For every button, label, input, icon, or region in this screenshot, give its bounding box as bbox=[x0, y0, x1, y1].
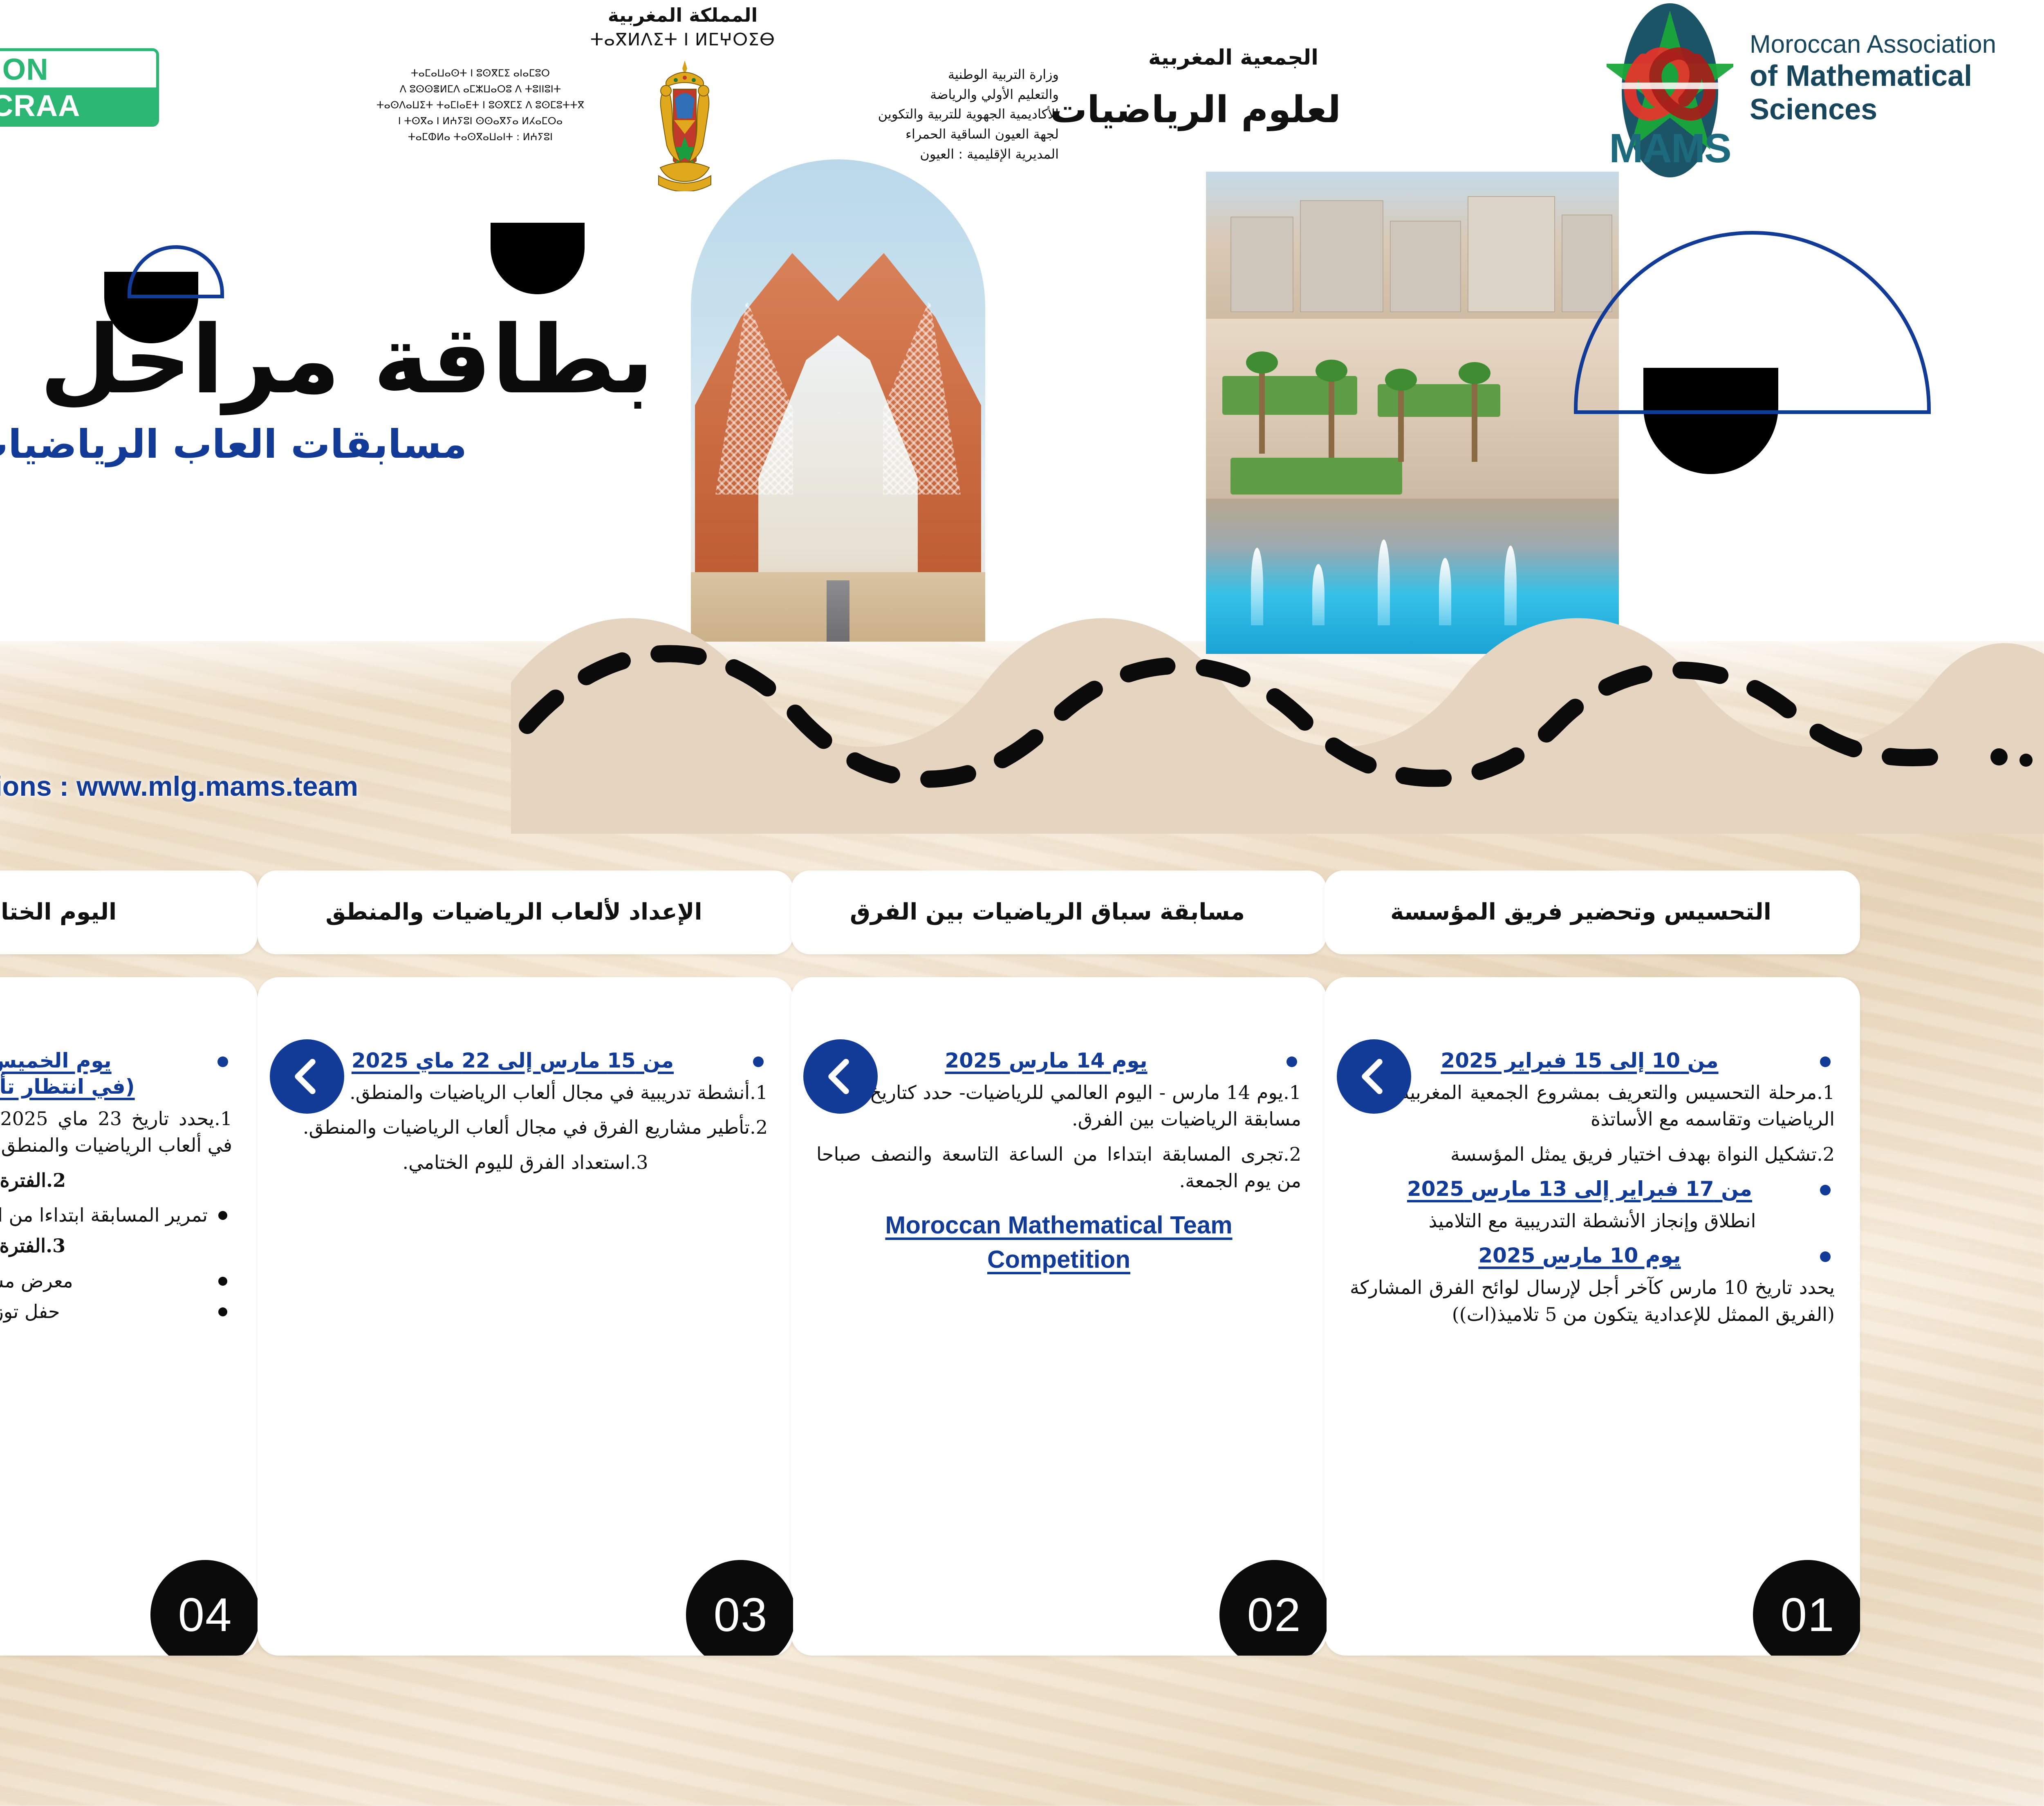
card-01-item-2: 2.تشكيل النواة بهدف اختيار فريق يمثل الم… bbox=[1350, 1141, 1835, 1168]
card-02-date-1: يوم 14 مارس 2025 bbox=[945, 1047, 1147, 1074]
mams-en-line-3: Sciences bbox=[1750, 93, 2036, 126]
timeline-card-01: التحسيس وتحضير فريق المؤسسة من 10 إلى 15… bbox=[1325, 871, 1860, 1656]
card-01-body: من 10 إلى 15 فبراير 2025 1.مرحلة التحسيس… bbox=[1325, 977, 1860, 1656]
ministry-ar-line-3: الأكاديمية الجهوية للتربية والتكوين bbox=[740, 104, 1059, 124]
card-01-item-4: يحدد تاريخ 10 مارس كآخر أجل لإرسال لوائح… bbox=[1350, 1274, 1835, 1328]
card-04-number: 04 bbox=[178, 1587, 232, 1642]
card-03-arrow-button[interactable] bbox=[270, 1039, 344, 1114]
card-02-item-1: 1.يوم 14 مارس - اليوم العالمي للرياضيات-… bbox=[816, 1079, 1301, 1133]
card-03-title: الإعداد لألعاب الرياضيات والمنطق bbox=[309, 900, 741, 925]
card-04-number-badge: 04 bbox=[150, 1560, 258, 1656]
decor-halfdisc-3 bbox=[491, 223, 585, 294]
page-subtitle: مسابقات العاب الرياضيات والمنطق bbox=[0, 421, 658, 468]
mams-english-name: Moroccan Association of Mathematical Sci… bbox=[1750, 30, 2036, 126]
arrow-left-icon bbox=[284, 1054, 330, 1099]
decor-semicircle-outline-large bbox=[1574, 231, 1931, 414]
card-01-number-badge: 01 bbox=[1753, 1560, 1860, 1656]
card-02-body: يوم 14 مارس 2025 1.يوم 14 مارس - اليوم ا… bbox=[791, 977, 1327, 1656]
card-03-date-1: من 15 مارس إلى 22 ماي 2025 bbox=[352, 1047, 674, 1074]
page-title: بطاقة مراحل المشروع bbox=[0, 311, 658, 410]
decor-semicircle-outline-2 bbox=[128, 245, 224, 298]
mams-arabic-line-2: لعلوم الرياضيات bbox=[1112, 88, 1341, 131]
card-02-number: 02 bbox=[1247, 1587, 1301, 1642]
card-03-item-2: 2.تأطير مشاريع الفرق في مجال ألعاب الريا… bbox=[283, 1114, 768, 1141]
card-04-date-1: يوم الخميس 23 ماي 2025 bbox=[0, 1047, 112, 1074]
ministry-tif-line-1: ⵜⴰⵎⴰⵡⴰⵙⵜ ⵏ ⵓⵙⴳⵎⵉ ⴰⵏⴰⵎⵓⵔ bbox=[321, 65, 640, 81]
card-02-number-badge: 02 bbox=[1219, 1560, 1327, 1656]
poster-root: OCP FONDATION PHOSBOUCRAA المملكة المغرب… bbox=[0, 0, 2044, 1806]
card-01-arrow-button[interactable] bbox=[1337, 1039, 1411, 1114]
card-02-arrow-button[interactable] bbox=[803, 1039, 878, 1114]
mams-en-line-2: of Mathematical bbox=[1750, 59, 2036, 93]
card-01-item-1: 1.مرحلة التحسيس والتعريف بمشروع الجمعية … bbox=[1350, 1079, 1835, 1133]
timeline-card-04: اليوم الختامي ماي 2025 يوم الخميس 23 ماي… bbox=[0, 871, 258, 1656]
card-01-bullet-3: يوم 10 مارس 2025 bbox=[1350, 1242, 1835, 1269]
ministry-tif-line-4: ⵏ ⵜⵙⴳⴰ ⵏ ⵍⵄⵢⵓⵏ ⵙⵙⴰⴳⵢⴰ ⵍⵃⴰⵎⵔⴰ bbox=[321, 113, 640, 129]
timeline-card-02: مسابقة سباق الرياضيات بين الفرق يوم 14 م… bbox=[791, 871, 1327, 1656]
card-01-date-1: من 10 إلى 15 فبراير 2025 bbox=[1441, 1047, 1718, 1074]
ministry-block: المملكة المغربية ⵜⴰⴳⵍⴷⵉⵜ ⵏ ⵍⵎⵖⵔⵉⴱ ⵜⴰⵎⴰⵡⴰ… bbox=[298, 4, 1067, 196]
card-04-title: اليوم الختامي ماي 2025 bbox=[0, 900, 156, 925]
card-01-header: التحسيس وتحضير فريق المؤسسة bbox=[1325, 871, 1860, 954]
card-01-date-3: يوم 10 مارس 2025 bbox=[1478, 1242, 1681, 1269]
card-02-bullet-1: يوم 14 مارس 2025 bbox=[816, 1047, 1301, 1074]
ministry-lines-tifinagh: ⵜⴰⵎⴰⵡⴰⵙⵜ ⵏ ⵓⵙⴳⵎⵉ ⴰⵏⴰⵎⵓⵔ ⴷ ⵓⵙⵙⴻⵍⵎⴷ ⴰⵎⵣⵡⴰⵔ… bbox=[321, 65, 640, 145]
card-04-header: اليوم الختامي ماي 2025 bbox=[0, 871, 258, 954]
card-04-sub-3: حفل توزيع الجوائز bbox=[0, 1298, 232, 1325]
card-01-number: 01 bbox=[1780, 1587, 1835, 1642]
decor-wave-path bbox=[511, 580, 2044, 834]
card-03-item-3: 3.استعداد الفرق لليوم الختامي. bbox=[283, 1149, 768, 1176]
card-03-body: من 15 مارس إلى 22 ماي 2025 1.أنشطة تدريب… bbox=[258, 977, 793, 1656]
mams-en-line-1: Moroccan Association bbox=[1750, 30, 2036, 59]
arrow-left-icon bbox=[818, 1054, 863, 1099]
card-02-item-2: 2.تجرى المسابقة ابتداءا من الساعة التاسع… bbox=[816, 1141, 1301, 1195]
ministry-ar-line-5: المديرية الإقليمية : العيون bbox=[740, 144, 1059, 164]
card-03-header: الإعداد لألعاب الرياضيات والمنطق bbox=[258, 871, 793, 954]
card-04-bullet-1: يوم الخميس 23 ماي 2025 (في انتظار تأكيد … bbox=[0, 1047, 232, 1100]
fondation-line2: PHOSBOUCRAA bbox=[0, 88, 80, 123]
kingdom-name-tifinagh: ⵜⴰⴳⵍⴷⵉⵜ ⵏ ⵍⵎⵖⵔⵉⴱ bbox=[298, 29, 1067, 49]
arrow-left-icon bbox=[1351, 1054, 1397, 1099]
card-04-sub-1: تمرير المسابقة ابتداءا من الساعة التاسعة… bbox=[0, 1202, 232, 1229]
card-04-date-2: (في انتظار تأكيد التاريخ لاحقا ) bbox=[0, 1074, 135, 1100]
card-03-number-badge: 03 bbox=[686, 1560, 793, 1656]
title-block: بطاقة مراحل المشروع مسابقات العاب الرياض… bbox=[0, 311, 658, 468]
ministry-ar-line-1: وزارة التربية الوطنية bbox=[740, 65, 1059, 85]
timeline-card-03: الإعداد لألعاب الرياضيات والمنطق من 15 م… bbox=[258, 871, 793, 1656]
poster-header: OCP FONDATION PHOSBOUCRAA المملكة المغرب… bbox=[0, 0, 2044, 213]
timeline-cards: اليوم الختامي ماي 2025 يوم الخميس 23 ماي… bbox=[0, 871, 2044, 1684]
card-02-competition-link[interactable]: Moroccan Mathematical Team Competition bbox=[816, 1208, 1301, 1277]
mams-logo-block: الجمعية المغربية لعلوم الرياضيات MAMS Mo… bbox=[1132, 2, 2036, 182]
mams-wordmark: MAMS bbox=[1602, 125, 1737, 172]
ministry-tif-line-2: ⴷ ⵓⵙⵙⴻⵍⵎⴷ ⴰⵎⵣⵡⴰⵔⵓ ⴷ ⵜⵓⵏⵏⵓⵏⵜ bbox=[321, 81, 640, 97]
card-04-item-3: 3.الفترة المسائية : bbox=[0, 1233, 232, 1259]
card-03-item-1: 1.أنشطة تدريبية في مجال ألعاب الرياضيات … bbox=[283, 1079, 768, 1106]
card-01-bullet-1: من 10 إلى 15 فبراير 2025 bbox=[1350, 1047, 1835, 1074]
card-01-date-2: من 17 فبراير إلى 13 مارس 2025 bbox=[1407, 1176, 1752, 1202]
card-04-item-1: 1.يحدد تاريخ 23 ماي 2025 موعدا لإجراء ال… bbox=[0, 1106, 232, 1159]
card-04-sub-2: معرض مشاريع الفرق bbox=[0, 1268, 232, 1294]
photo-laayoune-arch bbox=[691, 159, 985, 642]
morocco-coat-of-arms-icon bbox=[644, 56, 726, 191]
card-03-number: 03 bbox=[713, 1587, 768, 1642]
more-info-url[interactable]: For More Informations : www.mlg.mams.tea… bbox=[0, 770, 358, 802]
card-02-title: مسابقة سباق الرياضيات بين الفرق bbox=[834, 900, 1284, 925]
fondation-line1: FONDATION bbox=[0, 52, 49, 87]
mams-arabic-line-1: الجمعية المغربية bbox=[1139, 45, 1318, 70]
card-01-bullet-2: من 17 فبراير إلى 13 مارس 2025 bbox=[1350, 1176, 1835, 1202]
kingdom-name-arabic: المملكة المغربية bbox=[298, 4, 1067, 26]
ministry-tif-line-3: ⵜⴰⵙⴷⴰⵡⵉⵜ ⵜⴰⵎⵏⴰⴹⵜ ⵏ ⵓⵙⴳⵎⵉ ⴷ ⵓⵙⵎⵓⵜⵜⴳ bbox=[321, 97, 640, 113]
card-01-item-3: انطلاق وإنجاز الأنشطة التدريبية مع التلا… bbox=[1350, 1208, 1835, 1234]
card-02-header: مسابقة سباق الرياضيات بين الفرق bbox=[791, 871, 1327, 954]
ministry-ar-line-4: لجهة العيون الساقية الحمراء bbox=[740, 124, 1059, 144]
card-01-title: التحسيس وتحضير فريق المؤسسة bbox=[1374, 900, 1811, 925]
card-04-body: يوم الخميس 23 ماي 2025 (في انتظار تأكيد … bbox=[0, 977, 258, 1656]
fondation-phosboucraa-logo: FONDATION PHOSBOUCRAA bbox=[0, 48, 159, 127]
ministry-lines-arabic: وزارة التربية الوطنية والتعليم الأولي وا… bbox=[740, 65, 1059, 164]
card-04-item-2: 2.الفترة الصباحية : bbox=[0, 1167, 232, 1194]
ministry-tif-line-5: ⵜⴰⵎⵀⵍⴰ ⵜⴰⵙⴳⴰⵡⴰⵏⵜ : ⵍⵄⵢⵓⵏ bbox=[321, 129, 640, 145]
ministry-ar-line-2: والتعليم الأولي والرياضة bbox=[740, 85, 1059, 105]
card-03-bullet-1: من 15 مارس إلى 22 ماي 2025 bbox=[283, 1047, 768, 1074]
